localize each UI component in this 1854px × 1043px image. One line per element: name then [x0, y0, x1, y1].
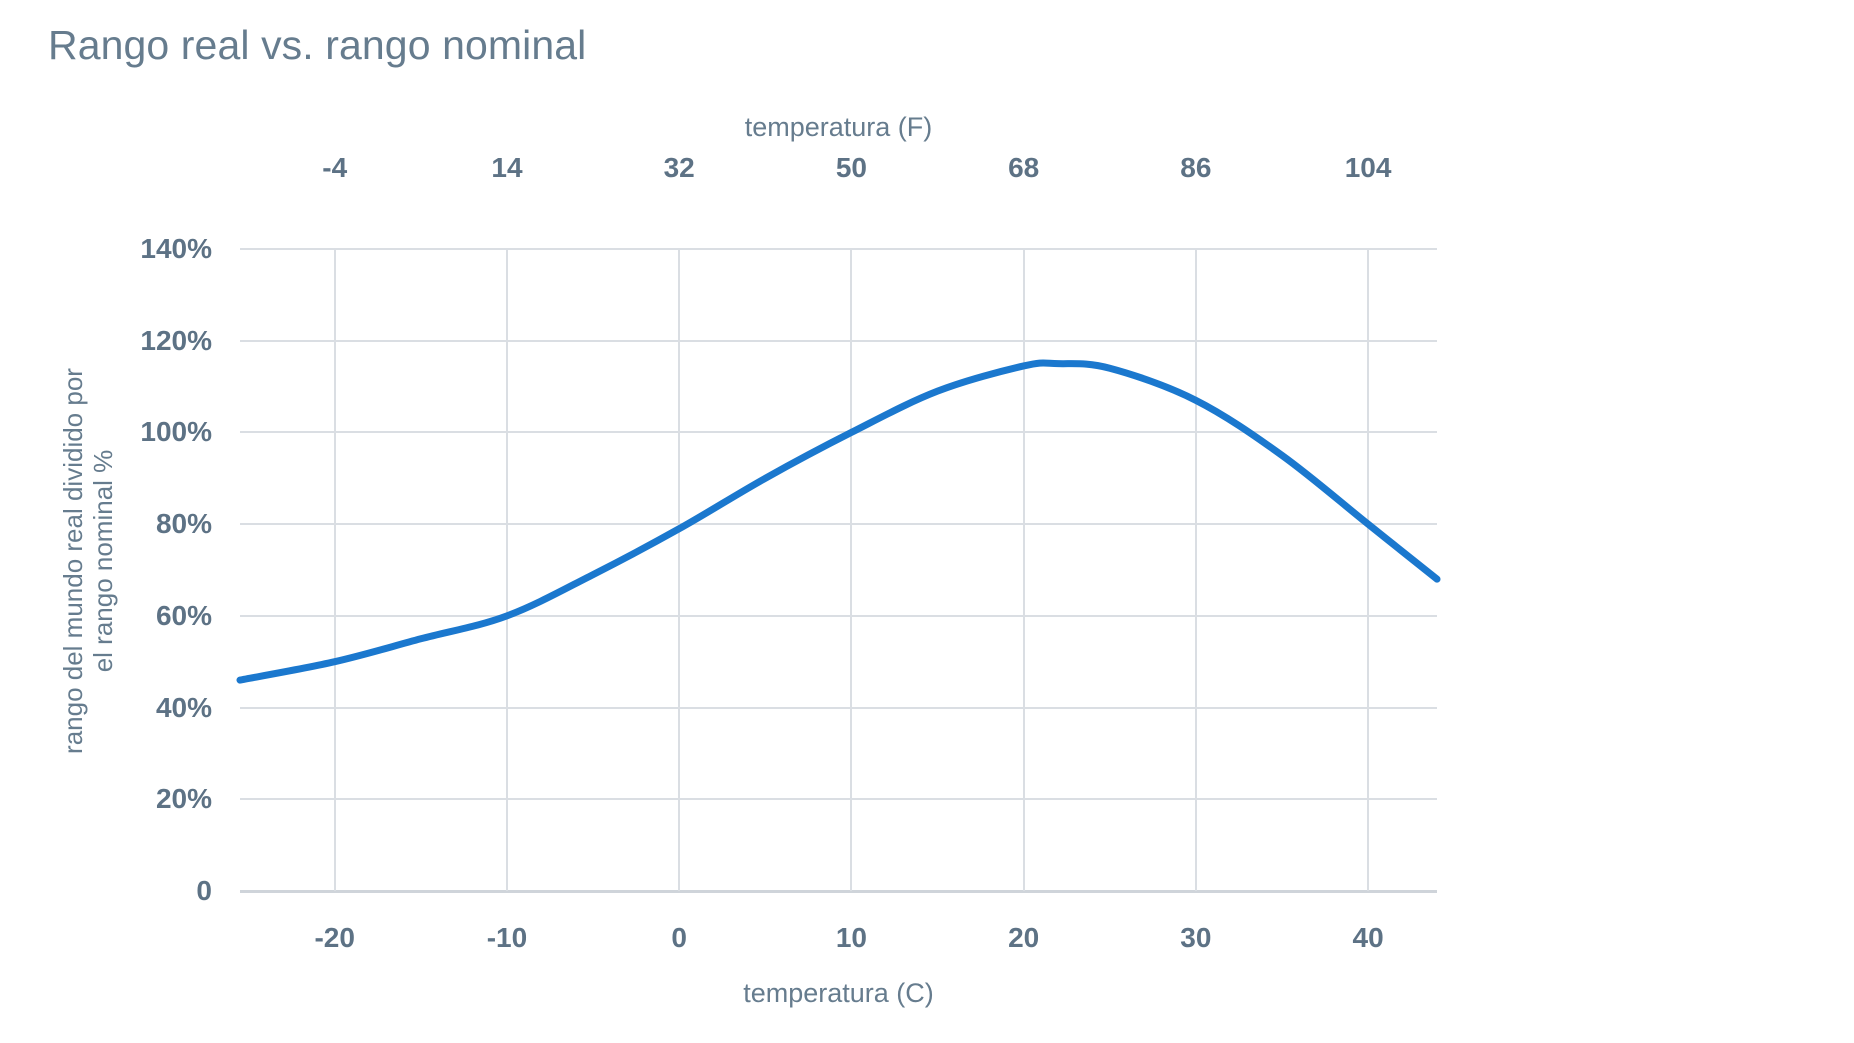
top-tick-label-50: 50 — [836, 152, 867, 184]
bottom-tick-label-20: 20 — [1008, 922, 1039, 954]
y-tick-label-20: 20% — [156, 783, 212, 815]
top-tick-label-32: 32 — [664, 152, 695, 184]
y-tick-label-120: 120% — [140, 325, 212, 357]
y-tick-label-100: 100% — [140, 416, 212, 448]
bottom-tick-label-30: 30 — [1180, 922, 1211, 954]
y-tick-label-60: 60% — [156, 600, 212, 632]
y-tick-label-140: 140% — [140, 233, 212, 265]
y-tick-label-80: 80% — [156, 508, 212, 540]
top-tick-label-14: 14 — [491, 152, 522, 184]
top-tick-label--4: -4 — [322, 152, 347, 184]
bottom-tick-label--20: -20 — [314, 922, 354, 954]
chart-title: Rango real vs. rango nominal — [48, 22, 586, 69]
bottom-tick-label-0: 0 — [671, 922, 687, 954]
top-tick-label-68: 68 — [1008, 152, 1039, 184]
chart-container: Rango real vs. rango nominal temperatura… — [0, 0, 1854, 1043]
bottom-tick-label-10: 10 — [836, 922, 867, 954]
y-axis-title: rango del mundo real dividido por el ran… — [58, 211, 118, 911]
series-path-real-vs-nominal — [240, 363, 1437, 680]
y-tick-label-40: 40% — [156, 692, 212, 724]
bottom-tick-label-40: 40 — [1353, 922, 1384, 954]
top-tick-label-104: 104 — [1345, 152, 1392, 184]
series-line-chart — [240, 249, 1437, 891]
top-tick-label-86: 86 — [1180, 152, 1211, 184]
top-axis-title: temperatura (F) — [240, 112, 1437, 143]
bottom-axis-title: temperatura (C) — [240, 978, 1437, 1009]
y-tick-label-0: 0 — [196, 875, 212, 907]
bottom-tick-label--10: -10 — [487, 922, 527, 954]
plot-area — [240, 249, 1437, 891]
